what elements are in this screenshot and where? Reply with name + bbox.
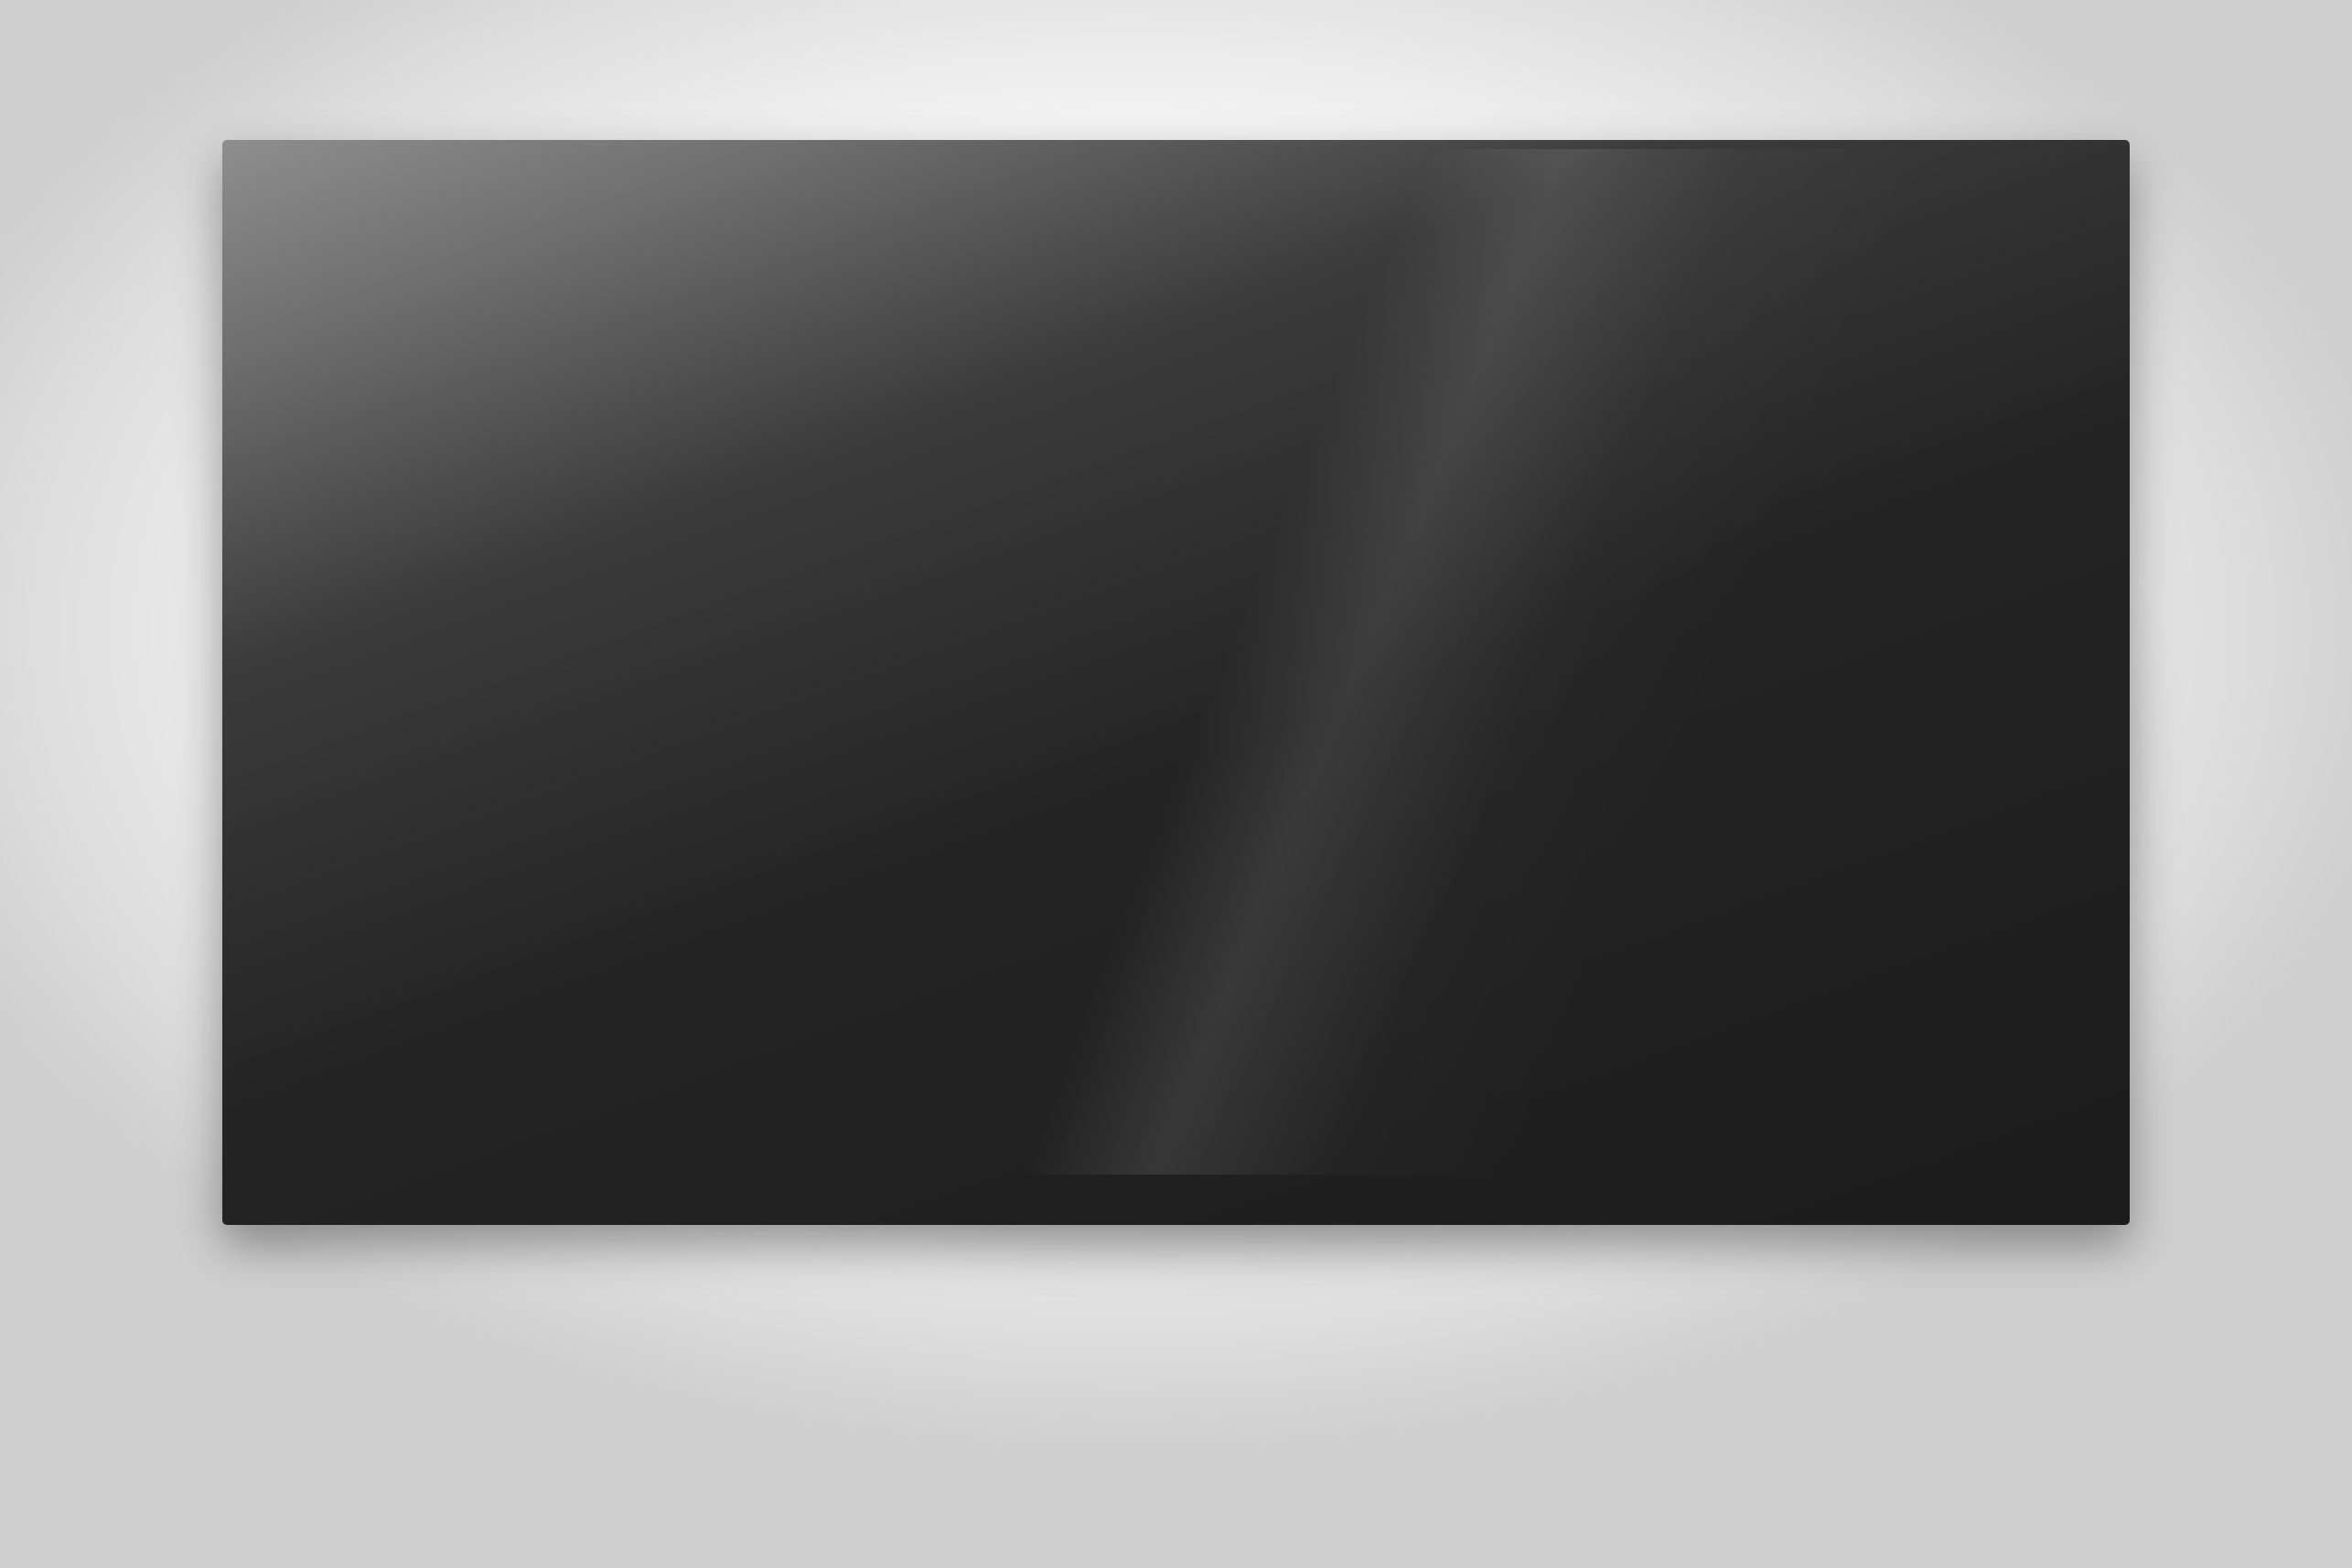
tv-monitor: World Comparison units	[222, 140, 2130, 1225]
tv-bezel	[222, 140, 2130, 1225]
